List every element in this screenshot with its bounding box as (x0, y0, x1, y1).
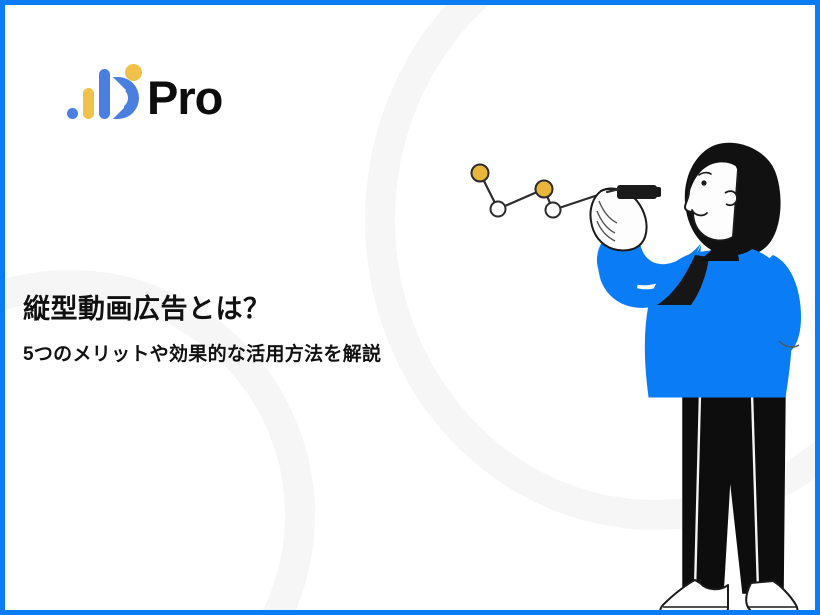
sleeve-forearm (597, 241, 641, 290)
brand-logo[interactable]: Pro (67, 57, 222, 119)
chart-point-2-white (491, 202, 506, 217)
poster-canvas: Pro 縦型動画広告とは？ 5つのメリットや効果的な活用方法を解説 (0, 0, 820, 615)
trousers (683, 391, 785, 593)
chart-polyline (480, 173, 607, 210)
background-ring-top-right (365, 0, 820, 530)
marker-pen-icon (607, 185, 661, 199)
brand-name-text: Pro (147, 74, 222, 121)
chart-point-4-white (546, 203, 561, 218)
headline-block: 縦型動画広告とは？ 5つのメリットや効果的な活用方法を解説 (23, 293, 493, 367)
sweater-raised-arm (598, 227, 709, 308)
logo-bar-blue-icon (99, 69, 110, 119)
head-face (685, 155, 739, 240)
analytics-bars-logo-mark-icon (67, 61, 141, 119)
hand-holding-marker (590, 189, 646, 251)
logo-d-dot-icon (125, 64, 142, 81)
logo-dot-icon (67, 108, 78, 119)
logo-d-arc-icon (113, 77, 139, 119)
sweater-torso (645, 247, 801, 397)
chart-point-3-yellow (536, 181, 553, 198)
shoe-left (660, 580, 728, 615)
illustration-woman-drawing-line-chart (455, 5, 815, 615)
hair-back (685, 143, 781, 257)
shoe-right (746, 581, 797, 615)
hair-front (690, 146, 772, 261)
page-subtitle: 5つのメリットや効果的な活用方法を解説 (23, 343, 493, 368)
chart-point-1-yellow (472, 165, 489, 182)
logo-d-shape-icon (113, 75, 141, 119)
page-title: 縦型動画広告とは？ (23, 293, 493, 327)
logo-bar-yellow-icon (83, 88, 94, 119)
